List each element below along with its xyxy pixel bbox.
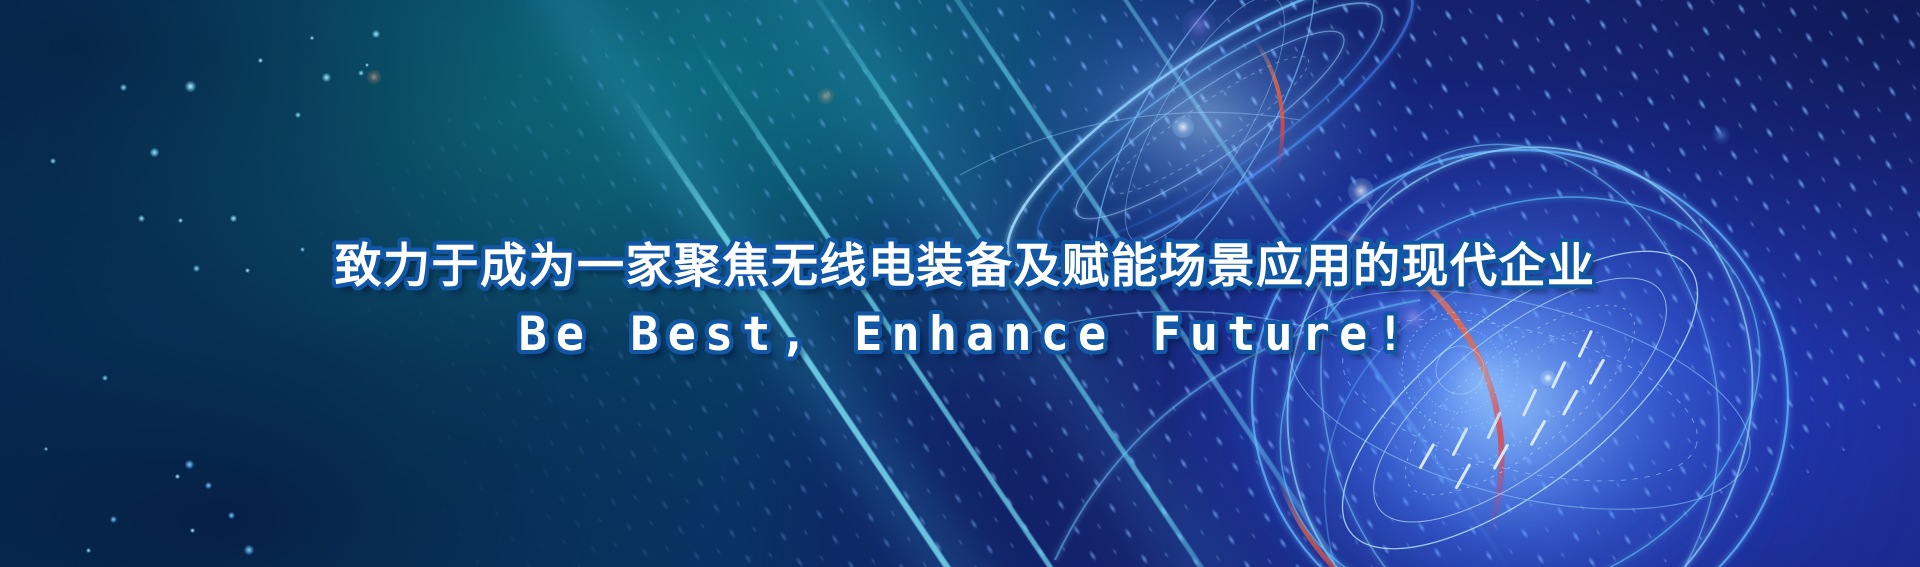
glow-dot <box>205 482 212 489</box>
glow-dot <box>1712 126 1730 144</box>
page-title: 致力于成为一家聚焦无线电装备及赋能场景应用的现代企业 <box>0 236 1920 298</box>
glow-dot <box>367 70 381 84</box>
glow-dot <box>230 215 237 222</box>
glow-dot <box>175 474 180 479</box>
glow-dot <box>818 88 834 104</box>
glow-dot <box>110 516 117 523</box>
glow-dot <box>50 158 56 164</box>
glow-dot <box>44 447 48 451</box>
glow-dot <box>138 215 145 222</box>
glow-dot <box>185 81 196 92</box>
glow-dot <box>1348 178 1374 204</box>
glow-dot <box>310 36 314 40</box>
glow-dot <box>258 58 263 63</box>
glow-dot <box>120 84 127 91</box>
glow-dot <box>358 70 364 76</box>
glow-dot <box>178 218 183 223</box>
glow-dot <box>102 375 108 381</box>
hero-banner: 致力于成为一家聚焦无线电装备及赋能场景应用的现代企业 Be Best, Enha… <box>0 0 1920 567</box>
glow-dot <box>372 30 380 38</box>
glow-dot <box>365 63 369 67</box>
glow-dot <box>185 460 194 469</box>
glow-dot <box>86 548 91 553</box>
banner-text-block: 致力于成为一家聚焦无线电装备及赋能场景应用的现代企业 Be Best, Enha… <box>0 236 1920 372</box>
page-subtitle: Be Best, Enhance Future! <box>0 298 1920 372</box>
glow-dot <box>1540 370 1556 386</box>
glow-dot <box>190 528 195 533</box>
glow-dot <box>295 112 301 118</box>
glow-dot <box>228 512 235 519</box>
glow-dot <box>150 148 159 157</box>
glow-dot <box>1172 116 1194 138</box>
glow-dot <box>322 73 331 82</box>
glow-dot <box>1182 8 1216 42</box>
glow-dot <box>244 545 254 555</box>
